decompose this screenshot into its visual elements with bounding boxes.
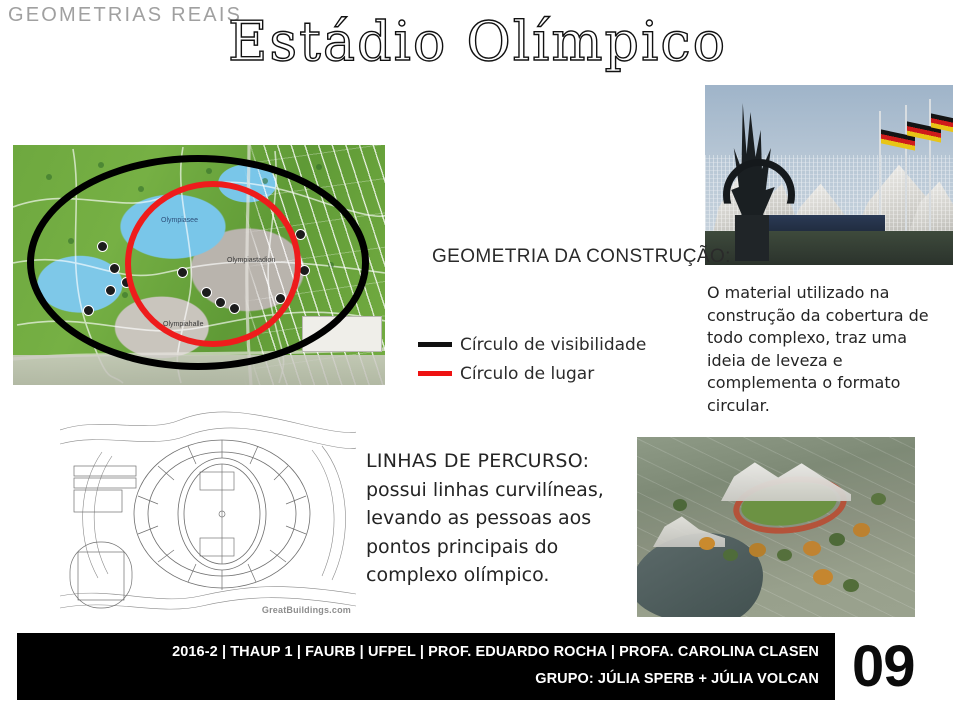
- footer-line-2: GRUPO: JÚLIA SPERB + JÚLIA VOLCAN: [535, 671, 819, 687]
- aerial-tree: [749, 543, 766, 557]
- site-plan-drawing: [60, 410, 356, 618]
- aerial-tree: [813, 569, 833, 585]
- page-number: 09: [852, 634, 942, 700]
- legend-swatch-black: [418, 342, 452, 347]
- aerial-tree: [673, 499, 687, 511]
- figure-tent-roof-photo: [705, 85, 953, 265]
- aerial-tree: [723, 549, 738, 561]
- legend-item-visibility: Círculo de visibilidade: [418, 330, 668, 359]
- aerial-tree: [843, 579, 859, 592]
- paths-paragraph: possui linhas curvilíneas, levando as pe…: [366, 479, 604, 587]
- kicker-label: GEOMETRIAS REAIS: [8, 4, 242, 27]
- legend-label-place: Círculo de lugar: [460, 364, 594, 384]
- paths-text-block: LINHAS DE PERCURSO: possui linhas curvil…: [366, 447, 628, 590]
- figure-park-map: Olympiasee Olympiastadion Olympiahalle: [13, 145, 385, 385]
- page-title: Estádio Olímpico: [228, 6, 788, 78]
- material-paragraph: O material utilizado na construção da co…: [707, 282, 945, 417]
- legend-label-visibility: Círculo de visibilidade: [460, 335, 646, 355]
- footer-line-1: 2016-2 | THAUP 1 | FAURB | UFPEL | PROF.…: [172, 644, 819, 660]
- geometry-heading: GEOMETRIA DA CONSTRUÇÃO:: [432, 246, 731, 268]
- aerial-tree: [829, 533, 845, 546]
- sculpture-pedestal: [735, 215, 769, 261]
- aerial-tree: [777, 549, 792, 561]
- aerial-tree: [699, 537, 715, 550]
- footer-bar: 2016-2 | THAUP 1 | FAURB | UFPEL | PROF.…: [17, 633, 835, 700]
- slide-canvas: GEOMETRIAS REAIS Estádio Olímpico: [0, 0, 960, 720]
- map-legend: Círculo de visibilidade Círculo de lugar: [418, 330, 668, 388]
- legend-item-place: Círculo de lugar: [418, 359, 668, 388]
- figure-aerial-photo: [637, 437, 915, 617]
- aerial-tree: [853, 523, 870, 537]
- legend-swatch-red: [418, 371, 452, 376]
- figure-site-plan: GreatBuildings.com: [60, 410, 356, 618]
- paths-heading: LINHAS DE PERCURSO:: [366, 450, 589, 472]
- aerial-tree: [871, 493, 886, 505]
- aerial-tree: [803, 541, 821, 556]
- overlay-place-circle: [125, 181, 301, 347]
- plan-watermark: GreatBuildings.com: [262, 605, 351, 615]
